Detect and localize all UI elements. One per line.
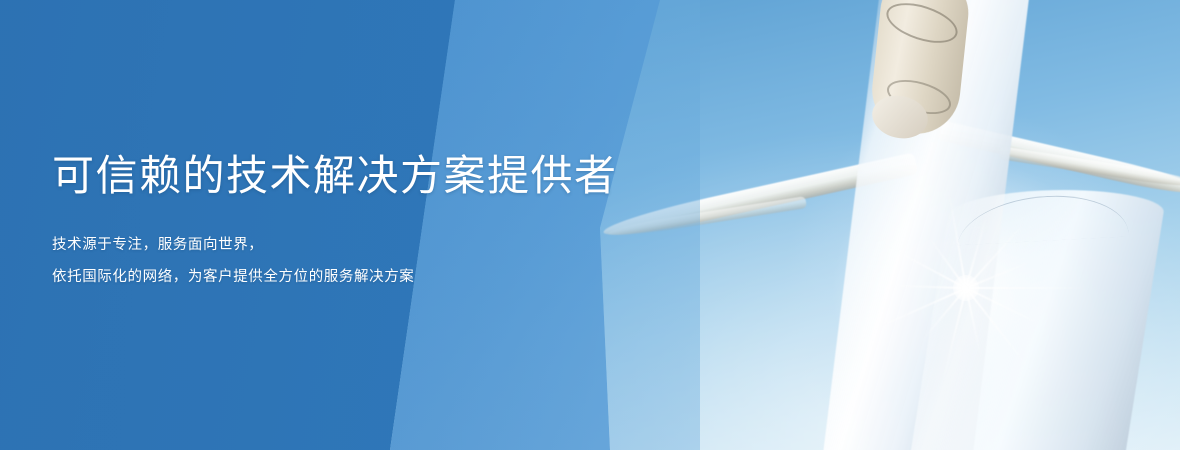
banner-headline: 可信赖的技术解决方案提供者 xyxy=(52,152,618,199)
banner-copy: 可信赖的技术解决方案提供者 技术源于专注，服务面向世界， 依托国际化的网络，为客… xyxy=(52,0,672,450)
banner-subtitle-line-1: 技术源于专注，服务面向世界， xyxy=(52,238,263,253)
hero-banner: 可信赖的技术解决方案提供者 技术源于专注，服务面向世界， 依托国际化的网络，为客… xyxy=(0,0,1180,450)
banner-subtitle-line-2: 依托国际化的网络，为客户提供全方位的服务解决方案 xyxy=(52,270,414,285)
